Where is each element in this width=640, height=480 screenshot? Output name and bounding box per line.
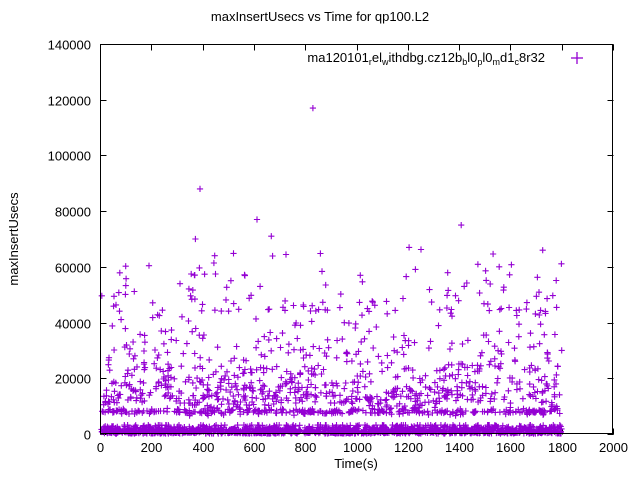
x-tick-label: 1600 <box>496 440 525 455</box>
y-tick-label: 20000 <box>55 372 91 387</box>
y-tick-label: 60000 <box>55 261 91 276</box>
y-tick-label: 140000 <box>48 38 91 53</box>
x-tick-label: 1800 <box>548 440 577 455</box>
y-tick-label: 100000 <box>48 149 91 164</box>
x-tick-label: 1200 <box>394 440 423 455</box>
x-tick-label: 1400 <box>445 440 474 455</box>
scatter-plot-svg: maxInsertUsecs vs Time for qp100.L2 maxI… <box>0 0 640 480</box>
x-tick-label: 600 <box>244 440 266 455</box>
y-tick-label: 0 <box>84 428 91 443</box>
x-tick-label: 400 <box>193 440 215 455</box>
x-tick-label: 1000 <box>343 440 372 455</box>
legend-series-label: ma120101relwithdbg.cz12bbl0pl0md1c8r32 <box>307 50 545 67</box>
x-tick-label: 2000 <box>599 440 628 455</box>
x-tick-label: 800 <box>295 440 317 455</box>
y-tick-label: 40000 <box>55 317 91 332</box>
legend: ma120101relwithdbg.cz12bbl0pl0md1c8r32 <box>307 50 583 67</box>
x-tick-label: 200 <box>141 440 163 455</box>
chart-title: maxInsertUsecs vs Time for qp100.L2 <box>211 9 429 24</box>
chart-canvas: maxInsertUsecs vs Time for qp100.L2 maxI… <box>0 0 640 480</box>
x-tick-label: 0 <box>97 440 104 455</box>
y-tick-label: 80000 <box>55 205 91 220</box>
y-tick-label: 120000 <box>48 94 91 109</box>
y-axis-label: maxInsertUsecs <box>6 192 21 286</box>
x-axis-label: Time(s) <box>334 456 378 471</box>
